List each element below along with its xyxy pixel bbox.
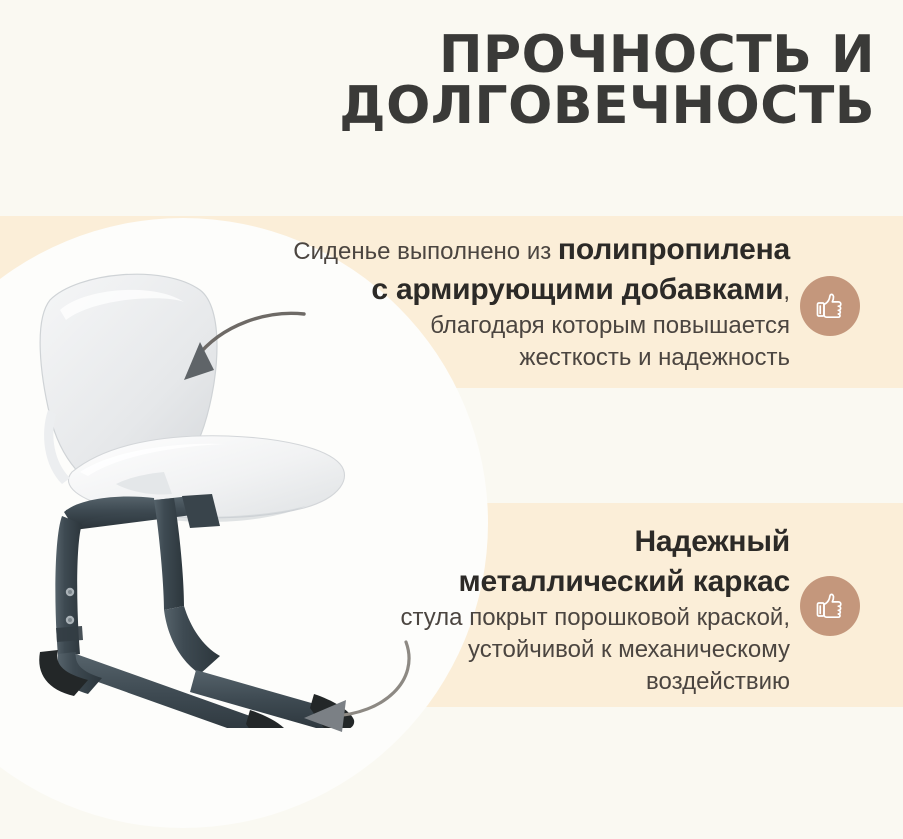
feature-2-line-2: металлический каркас [230, 562, 790, 602]
feature-1-line-1: Сиденье выполнено из полипропилена [160, 230, 790, 270]
infographic-canvas: ПРОЧНОСТЬ И ДОЛГОВЕЧНОСТЬ [0, 0, 903, 839]
feature-2-line-1: Надежный [230, 522, 790, 562]
feature-1-badge [800, 276, 860, 336]
page-title: ПРОЧНОСТЬ И ДОЛГОВЕЧНОСТЬ [235, 30, 875, 132]
feature-2-line-3: стула покрыт порошковой краской, [230, 602, 790, 634]
feature-text-1: Сиденье выполнено из полипропилена с арм… [160, 230, 790, 374]
thumbs-up-icon [813, 589, 847, 623]
feature-2-line-5: воздействию [230, 666, 790, 698]
feature-1-line-4: жесткость и надежность [160, 342, 790, 374]
feature-text-2: Надежный металлический каркас стула покр… [230, 522, 790, 698]
feature-1-line-3: благодаря которым повышается [160, 310, 790, 342]
thumbs-up-icon [813, 289, 847, 323]
page-title-line-1: ПРОЧНОСТЬ И [235, 30, 875, 81]
feature-2-badge [800, 576, 860, 636]
feature-2-line-4: устойчивой к механическому [230, 634, 790, 666]
page-title-line-2: ДОЛГОВЕЧНОСТЬ [235, 81, 875, 132]
feature-1-line-2: с армирующими добавками, [160, 270, 790, 310]
